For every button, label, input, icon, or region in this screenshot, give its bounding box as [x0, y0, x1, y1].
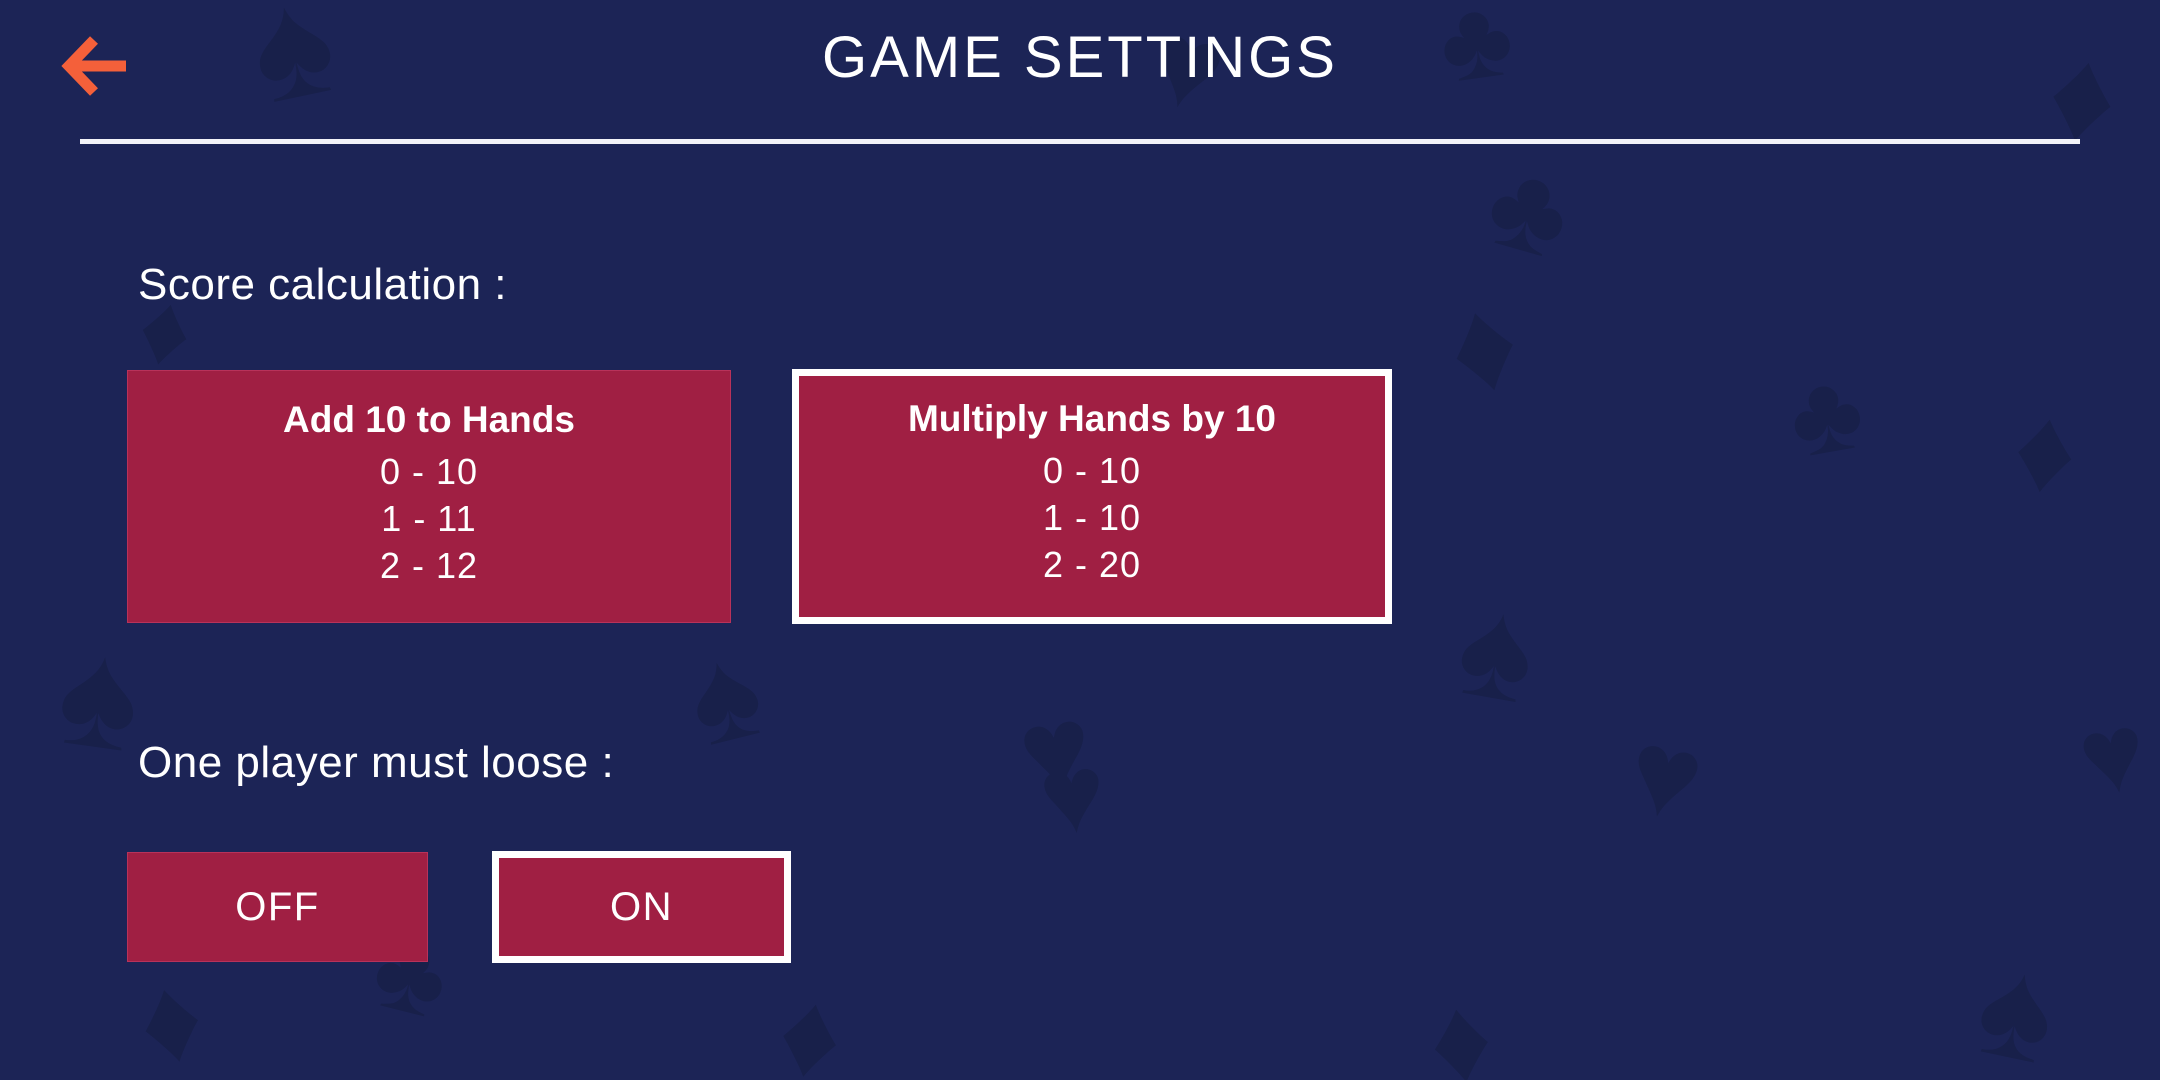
option-line: 1 - 11: [381, 498, 476, 540]
loose-toggle-on-button[interactable]: ON: [492, 851, 791, 963]
header-bar: GAME SETTINGS: [0, 0, 2160, 150]
option-title: Add 10 to Hands: [283, 399, 575, 441]
score-option-add-10-to-hands[interactable]: Add 10 to Hands 0 - 10 1 - 11 2 - 12: [127, 370, 731, 623]
score-calculation-label: Score calculation :: [138, 260, 507, 310]
option-line: 2 - 12: [380, 545, 478, 587]
option-line: 2 - 20: [1043, 544, 1141, 586]
loose-toggle-off-button[interactable]: OFF: [127, 852, 428, 962]
option-title: Multiply Hands by 10: [908, 398, 1276, 440]
score-option-multiply-hands-by-10[interactable]: Multiply Hands by 10 0 - 10 1 - 10 2 - 2…: [792, 369, 1392, 624]
settings-content: Score calculation : Add 10 to Hands 0 - …: [0, 0, 2160, 1080]
one-player-must-loose-label: One player must loose :: [138, 738, 614, 788]
option-line: 1 - 10: [1043, 497, 1141, 539]
game-settings-screen: ♠♥♣♦♣♦♦♦♣♠♥♠♠♥♥♦♦♦♠♣♥♣ GAME SETTINGS Sco…: [0, 0, 2160, 1080]
header-divider: [80, 139, 2080, 144]
option-line: 0 - 10: [380, 451, 478, 493]
page-title: GAME SETTINGS: [0, 24, 2160, 91]
option-line: 0 - 10: [1043, 450, 1141, 492]
